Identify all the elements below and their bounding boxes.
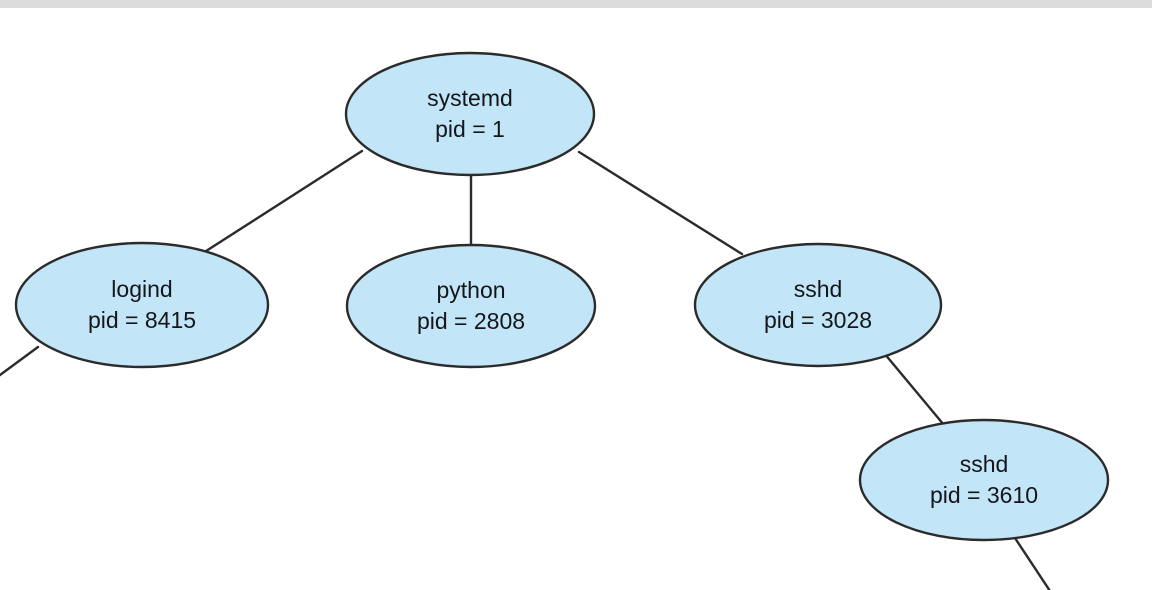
node-python-ellipse[interactable] (347, 245, 595, 367)
node-systemd-name: systemd (427, 85, 513, 111)
node-logind-ellipse[interactable] (16, 243, 268, 367)
node-logind-pid: pid = 8415 (88, 307, 196, 333)
node-python-name: python (436, 277, 505, 303)
node-systemd-ellipse[interactable] (346, 53, 594, 175)
node-sshd-3610-name: sshd (960, 451, 1009, 477)
edge-systemd-to-sshd-3028 (579, 152, 742, 254)
node-sshd-3028-pid: pid = 3028 (764, 307, 872, 333)
process-tree-canvas: systemd pid = 1 logind pid = 8415 python… (0, 0, 1152, 590)
edge-logind-to-offscreen-left (0, 347, 38, 378)
node-systemd-pid: pid = 1 (435, 116, 505, 142)
edge-sshd-3028-to-sshd-3610 (884, 353, 944, 425)
node-sshd-3610-ellipse[interactable] (860, 420, 1108, 540)
node-sshd-3028-ellipse[interactable] (695, 244, 941, 366)
edge-systemd-to-logind (203, 151, 362, 253)
node-sshd-3028-name: sshd (794, 276, 843, 302)
edge-sshd-3610-to-offscreen-bottom (1013, 535, 1052, 590)
node-systemd[interactable]: systemd pid = 1 (346, 53, 594, 175)
node-logind-name: logind (111, 276, 172, 302)
node-python[interactable]: python pid = 2808 (347, 245, 595, 367)
node-sshd-3028[interactable]: sshd pid = 3028 (695, 244, 941, 366)
node-sshd-3610[interactable]: sshd pid = 3610 (860, 420, 1108, 540)
node-sshd-3610-pid: pid = 3610 (930, 482, 1038, 508)
process-tree-diagram: systemd pid = 1 logind pid = 8415 python… (0, 0, 1152, 590)
edge-group (0, 151, 1052, 590)
node-python-pid: pid = 2808 (417, 308, 525, 334)
node-logind[interactable]: logind pid = 8415 (16, 243, 268, 367)
